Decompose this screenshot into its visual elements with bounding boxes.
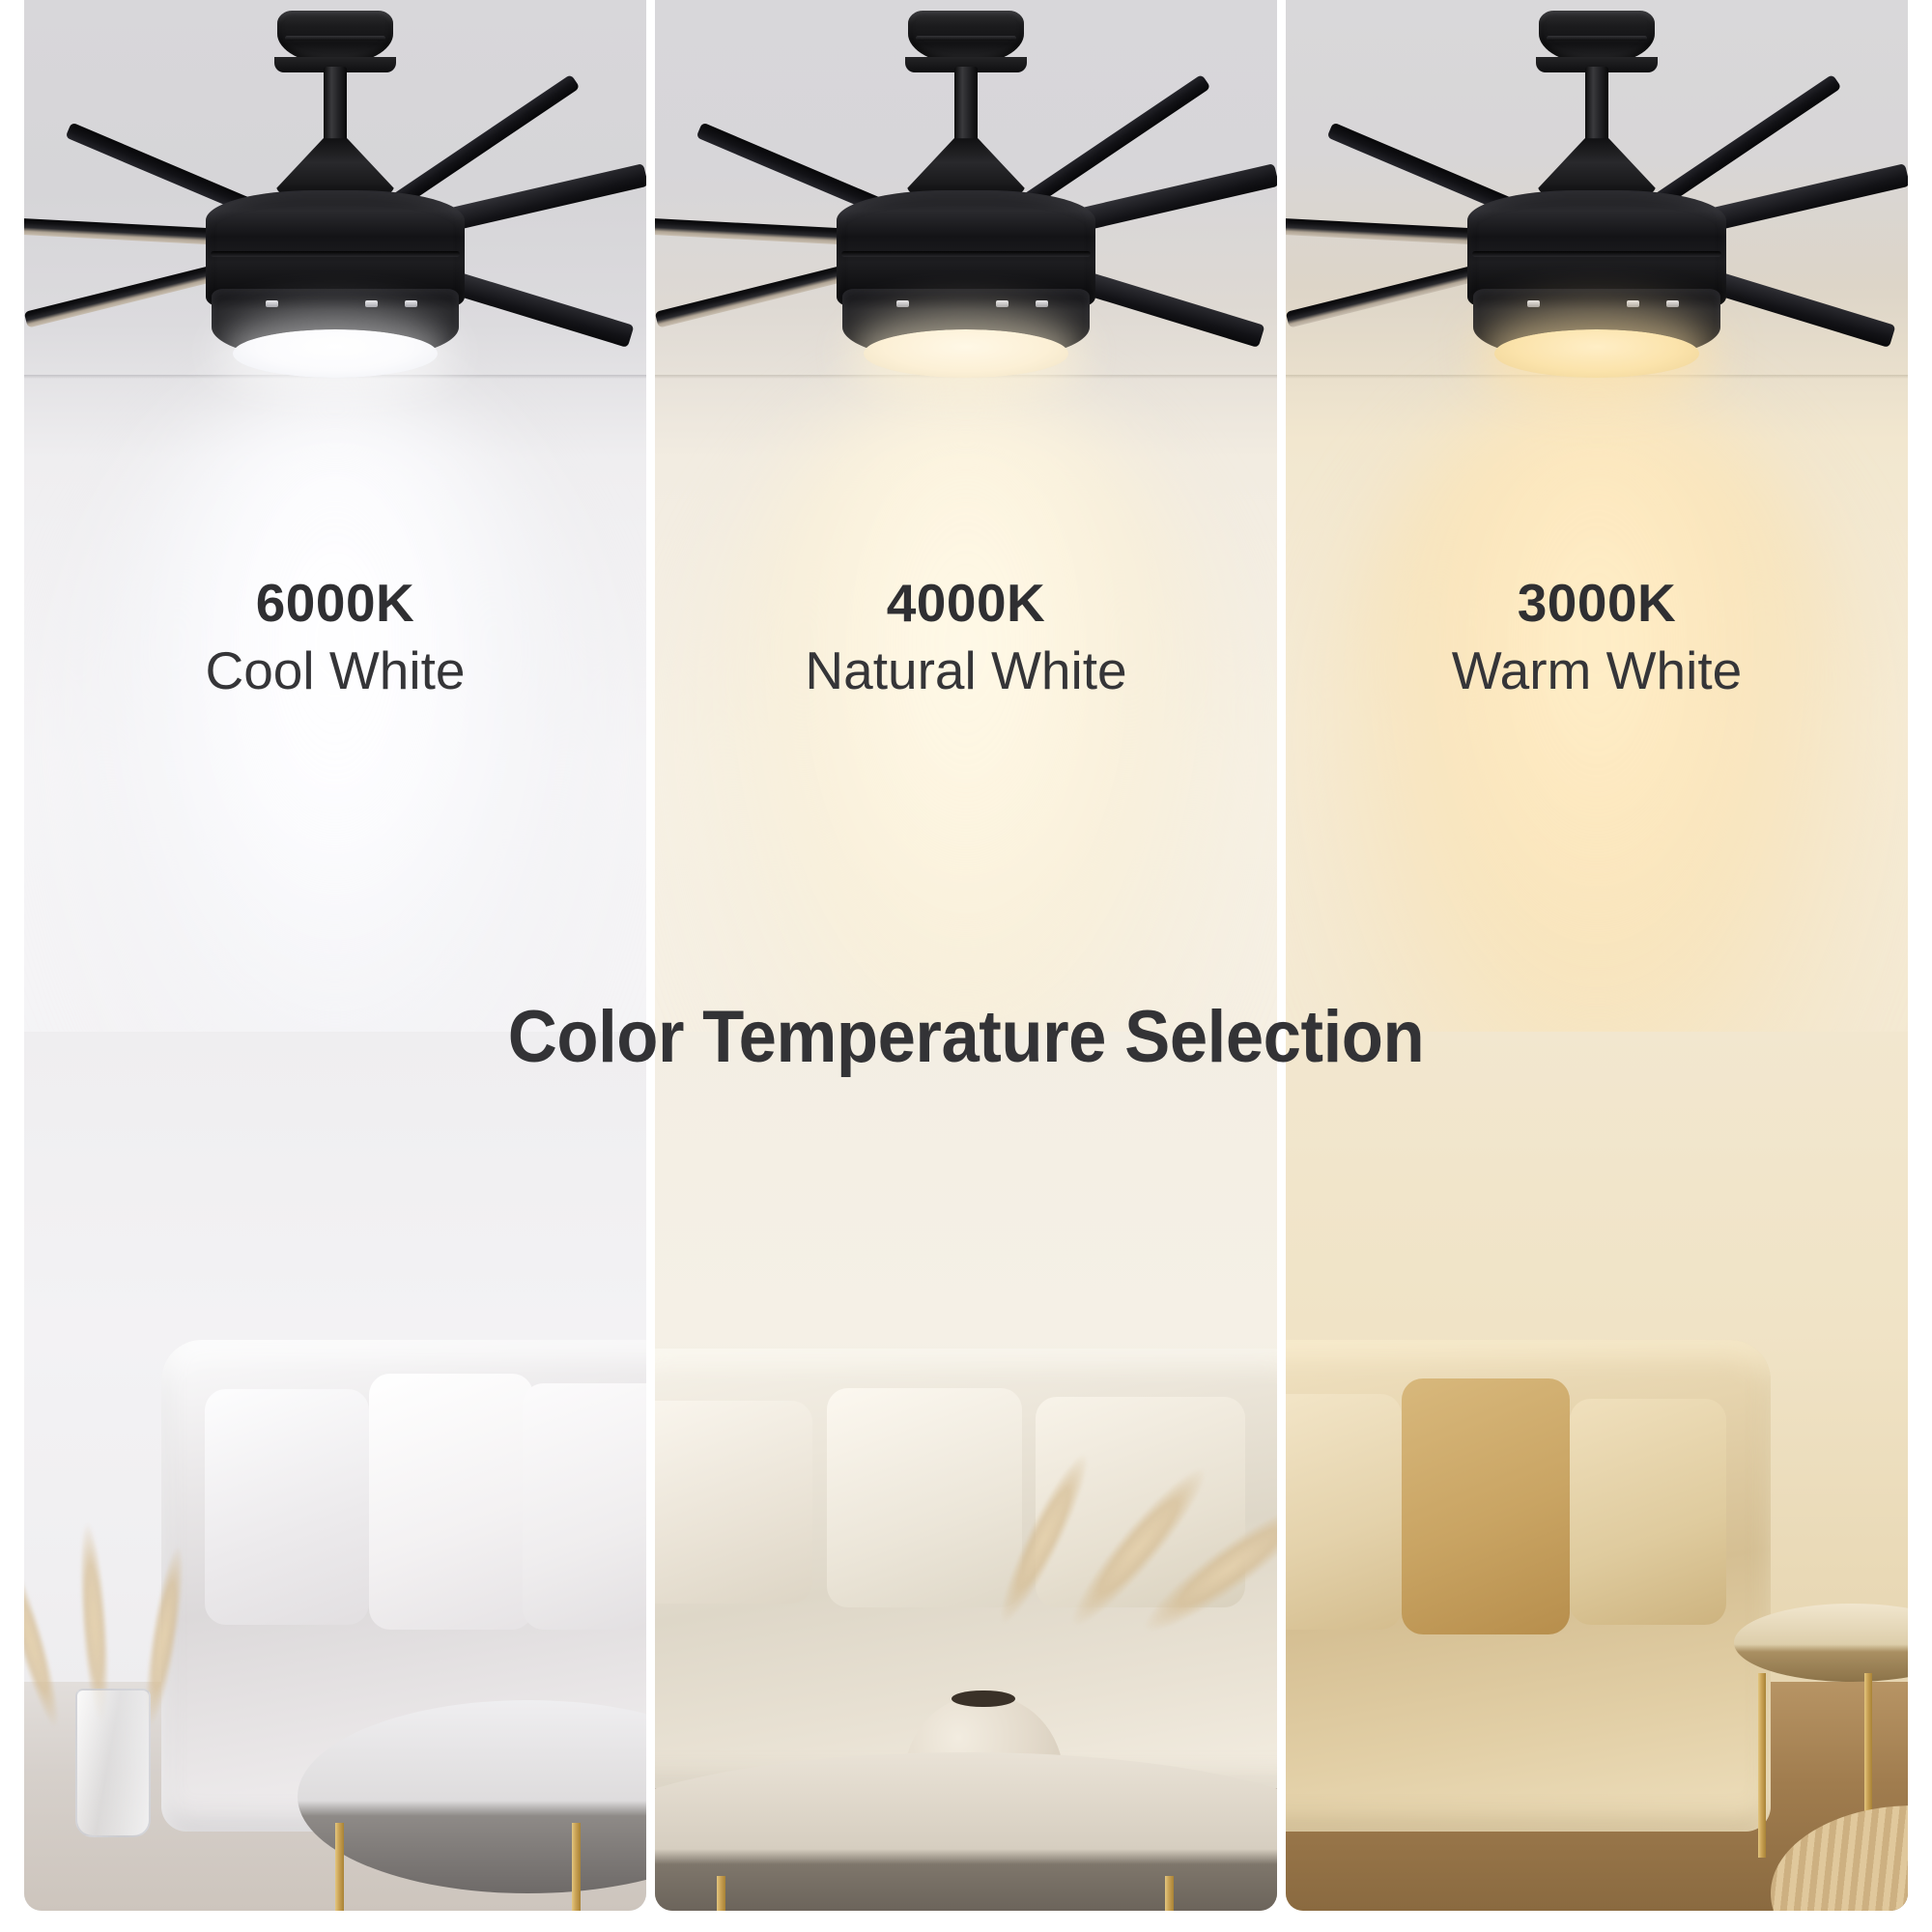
housing-screw	[996, 300, 1009, 307]
sofa-pillow	[1286, 1394, 1402, 1631]
coffee-table-leg	[335, 1823, 344, 1911]
room-scene	[24, 1032, 646, 1911]
glass-vase	[75, 1689, 151, 1837]
fan-downrod	[324, 67, 347, 146]
housing-screw	[1666, 300, 1679, 307]
product-infographic: 6000K Cool White	[0, 0, 1932, 1932]
color-temperature-panels: 6000K Cool White	[24, 0, 1908, 1911]
sofa-pillow	[205, 1389, 369, 1626]
vase-opening	[952, 1690, 1015, 1708]
housing-screw	[1036, 300, 1048, 307]
housing-screw	[405, 300, 417, 307]
panel-cool-white[interactable]: 6000K Cool White	[24, 0, 646, 1911]
coffee-table-top	[655, 1752, 1277, 1911]
ceiling-fan	[24, 0, 646, 573]
sofa	[1286, 1340, 1771, 1833]
label-block-cool-white: 6000K Cool White	[24, 577, 646, 699]
light-diffuser	[1494, 329, 1699, 378]
fan-downrod	[1585, 67, 1608, 146]
sofa-pillow	[1570, 1399, 1726, 1625]
ceiling-fan	[1286, 0, 1908, 573]
color-temperature-name: Cool White	[24, 643, 646, 699]
light-diffuser	[864, 329, 1068, 378]
label-block-warm-white: 3000K Warm White	[1286, 577, 1908, 699]
coffee-table-leg	[1165, 1876, 1174, 1911]
housing-screw	[266, 300, 278, 307]
housing-screw	[896, 300, 909, 307]
sofa-accent-pillow	[1402, 1378, 1570, 1634]
panel-natural-white[interactable]: 4000K Natural White	[655, 0, 1277, 1911]
light-diffuser	[233, 329, 438, 378]
kelvin-value: 6000K	[24, 577, 646, 630]
sofa-pillow	[369, 1374, 533, 1630]
pampas-grass	[941, 1338, 1221, 1647]
panel-warm-white[interactable]: 3000K Warm White	[1286, 0, 1908, 1911]
coffee-table-leg	[717, 1876, 725, 1911]
fan-motor-coupling	[275, 138, 395, 196]
ceiling-fan	[655, 0, 1277, 573]
fan-downrod	[954, 67, 978, 146]
page-title: Color Temperature Selection	[68, 995, 1864, 1079]
housing-screw	[365, 300, 378, 307]
fan-motor-coupling	[906, 138, 1026, 196]
room-scene	[655, 1032, 1277, 1911]
label-block-natural-white: 4000K Natural White	[655, 577, 1277, 699]
housing-screw	[1627, 300, 1639, 307]
housing-screw	[1527, 300, 1540, 307]
sofa-pillow	[655, 1401, 812, 1603]
color-temperature-name: Natural White	[655, 643, 1277, 699]
side-table-leg	[1758, 1673, 1766, 1858]
color-temperature-name: Warm White	[1286, 643, 1908, 699]
pampas-grass	[37, 1463, 201, 1752]
room-scene	[1286, 1032, 1908, 1911]
kelvin-value: 3000K	[1286, 577, 1908, 630]
fan-motor-coupling	[1537, 138, 1657, 196]
coffee-table-leg	[572, 1823, 581, 1911]
kelvin-value: 4000K	[655, 577, 1277, 630]
sofa-pillow	[523, 1383, 646, 1630]
